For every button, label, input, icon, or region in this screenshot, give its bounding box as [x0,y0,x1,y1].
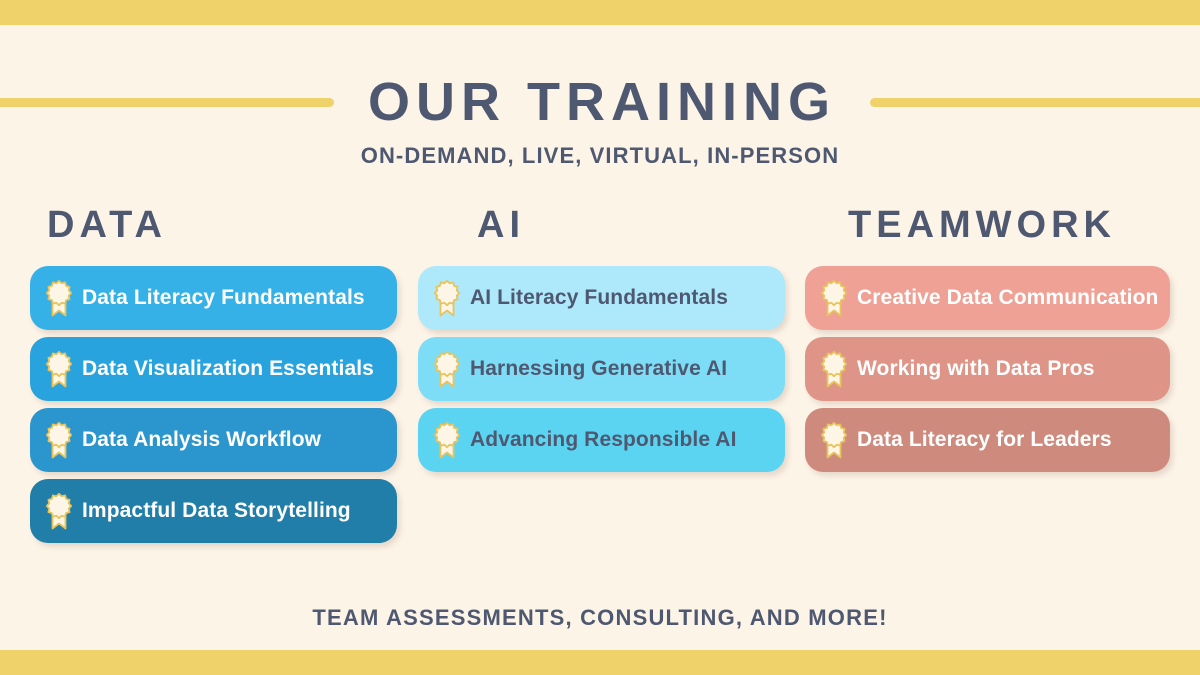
title-row: OUR TRAINING [0,68,1200,136]
course-list-data: Data Literacy FundamentalsData Visualiza… [0,266,400,550]
award-badge-icon [42,491,76,531]
course-pill-label: Creative Data Communication [857,286,1158,309]
footer-note: TEAM ASSESSMENTS, CONSULTING, AND MORE! [0,605,1200,631]
award-badge-icon [42,349,76,389]
award-badge-icon [42,278,76,318]
title-rule-left [0,98,334,107]
course-pill[interactable]: Working with Data Pros [805,337,1170,401]
title-rule-right [870,98,1200,107]
course-pill-label: Data Literacy Fundamentals [82,286,365,309]
course-list-teamwork: Creative Data CommunicationWorking with … [788,266,1188,479]
slide-root: OUR TRAINING ON-DEMAND, LIVE, VIRTUAL, I… [0,0,1200,675]
course-pill[interactable]: Creative Data Communication [805,266,1170,330]
award-badge-icon [430,420,464,460]
award-badge-icon [430,349,464,389]
course-pill-label: Data Visualization Essentials [82,357,374,380]
course-pill-label: Advancing Responsible AI [470,428,737,451]
course-pill[interactable]: Data Analysis Workflow [30,408,397,472]
course-pill-label: AI Literacy Fundamentals [470,286,728,309]
bottom-accent-bar [0,650,1200,675]
course-pill[interactable]: Advancing Responsible AI [418,408,785,472]
course-pill-label: Data Analysis Workflow [82,428,321,451]
course-pill[interactable]: Data Literacy for Leaders [805,408,1170,472]
course-pill-label: Data Literacy for Leaders [857,428,1112,451]
column-ai: AIAI Literacy FundamentalsHarnessing Gen… [400,206,788,550]
award-badge-icon [817,349,851,389]
award-badge-icon [42,420,76,460]
column-heading-data: DATA [0,206,400,244]
column-heading-ai: AI [400,206,788,244]
column-heading-teamwork: TEAMWORK [788,206,1188,244]
award-badge-icon [430,278,464,318]
column-data: DATAData Literacy FundamentalsData Visua… [0,206,400,550]
course-pill[interactable]: Harnessing Generative AI [418,337,785,401]
award-badge-icon [817,420,851,460]
top-accent-bar [0,0,1200,25]
course-list-ai: AI Literacy FundamentalsHarnessing Gener… [400,266,788,479]
page-title: OUR TRAINING [334,75,870,129]
course-pill-label: Harnessing Generative AI [470,357,727,380]
course-pill-label: Working with Data Pros [857,357,1095,380]
course-columns: DATAData Literacy FundamentalsData Visua… [0,206,1200,550]
course-pill[interactable]: Data Literacy Fundamentals [30,266,397,330]
course-pill[interactable]: Data Visualization Essentials [30,337,397,401]
course-pill-label: Impactful Data Storytelling [82,499,351,522]
column-teamwork: TEAMWORKCreative Data CommunicationWorki… [788,206,1188,550]
page-subtitle: ON-DEMAND, LIVE, VIRTUAL, IN-PERSON [0,143,1200,169]
course-pill[interactable]: AI Literacy Fundamentals [418,266,785,330]
course-pill[interactable]: Impactful Data Storytelling [30,479,397,543]
award-badge-icon [817,278,851,318]
